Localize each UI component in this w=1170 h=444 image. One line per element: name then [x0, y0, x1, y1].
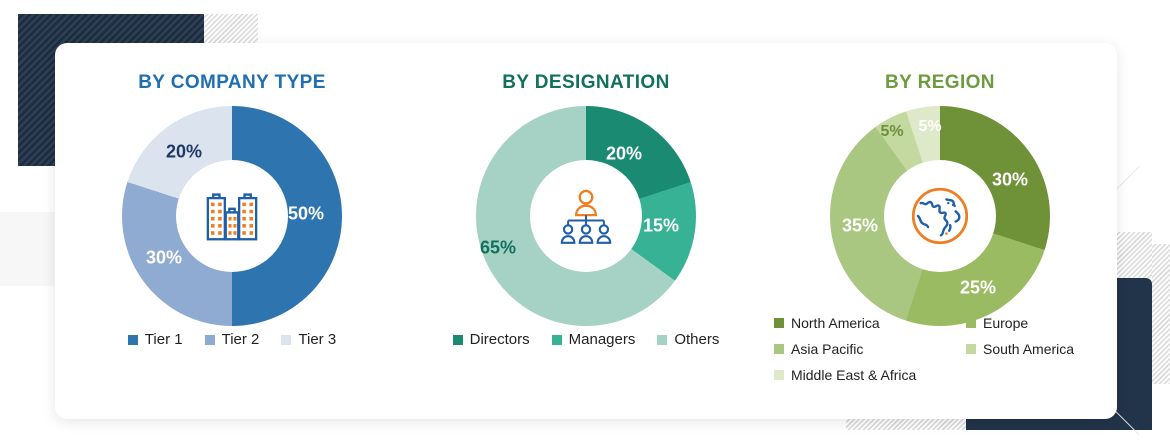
legend-item-managers[interactable]: Managers — [552, 331, 636, 348]
slice-label-tier-2: 30% — [146, 248, 182, 269]
legend-label: Directors — [470, 331, 530, 348]
office-buildings-icon — [194, 178, 270, 254]
legend-item-asia-pacific[interactable]: Asia Pacific — [774, 341, 942, 357]
globe-icon — [902, 178, 978, 254]
legend-swatch-icon — [774, 370, 784, 380]
slice-label-asia-pacific: 35% — [842, 216, 878, 237]
panel-designation: BY DESIGNATION — [409, 43, 763, 419]
legend-swatch-icon — [966, 318, 976, 328]
legend-swatch-icon — [552, 335, 562, 345]
panel-title-region: BY REGION — [763, 72, 1117, 94]
legend-swatch-icon — [281, 335, 291, 345]
org-hierarchy-icon — [548, 178, 624, 254]
slice-label-tier-1: 50% — [288, 204, 324, 225]
legend-swatch-icon — [657, 335, 667, 345]
legend-label: Managers — [569, 331, 636, 348]
legend-swatch-icon — [774, 318, 784, 328]
legend-swatch-icon — [128, 335, 138, 345]
legend-designation: Directors Managers Others — [409, 331, 763, 348]
panel-company-type: BY COMPANY TYPE — [55, 43, 409, 419]
legend-label: North America — [791, 315, 880, 331]
legend-swatch-icon — [966, 344, 976, 354]
slice-label-north-america: 30% — [992, 170, 1028, 191]
slice-label-europe: 25% — [960, 278, 996, 299]
legend-item-south-america[interactable]: South America — [966, 341, 1106, 357]
donut-chart-region: 30% 25% 35% 5% 5% — [830, 106, 1050, 326]
slice-label-south-america: 5% — [880, 123, 903, 141]
legend-swatch-icon — [453, 335, 463, 345]
legend-item-others[interactable]: Others — [657, 331, 719, 348]
slice-label-managers: 15% — [643, 216, 679, 237]
panel-title-company-type: BY COMPANY TYPE — [55, 72, 409, 94]
donut-chart-company-type: 50% 30% 20% — [122, 106, 342, 326]
legend-item-north-america[interactable]: North America — [774, 315, 942, 331]
slice-label-others: 65% — [480, 238, 516, 259]
donut-chart-designation: 20% 15% 65% — [476, 106, 696, 326]
panel-title-designation: BY DESIGNATION — [409, 72, 763, 94]
legend-item-middle-east-africa[interactable]: Middle East & Africa — [774, 367, 942, 383]
infographic-card: BY COMPANY TYPE — [55, 43, 1117, 419]
chart-panels: BY COMPANY TYPE — [55, 43, 1117, 419]
legend-label: Others — [674, 331, 719, 348]
legend-swatch-icon — [774, 344, 784, 354]
legend-company-type: Tier 1 Tier 2 Tier 3 — [55, 331, 409, 348]
legend-item-tier-1[interactable]: Tier 1 — [128, 331, 183, 348]
legend-label: Tier 2 — [222, 331, 260, 348]
legend-item-tier-2[interactable]: Tier 2 — [205, 331, 260, 348]
panel-region: BY REGION — [763, 43, 1117, 419]
slice-label-directors: 20% — [606, 144, 642, 165]
legend-region: North America Europe Asia Pacific South … — [763, 315, 1117, 383]
legend-item-europe[interactable]: Europe — [966, 315, 1106, 331]
legend-label: South America — [983, 341, 1074, 357]
slice-label-middle-east-africa: 5% — [918, 118, 941, 136]
legend-item-tier-3[interactable]: Tier 3 — [281, 331, 336, 348]
legend-item-directors[interactable]: Directors — [453, 331, 530, 348]
hatch-block-bottom-right-b — [1152, 244, 1170, 384]
legend-swatch-icon — [205, 335, 215, 345]
legend-label: Europe — [983, 315, 1028, 331]
legend-label: Asia Pacific — [791, 341, 863, 357]
slice-label-tier-3: 20% — [166, 142, 202, 163]
legend-label: Tier 3 — [298, 331, 336, 348]
legend-label: Middle East & Africa — [791, 367, 916, 383]
legend-label: Tier 1 — [145, 331, 183, 348]
